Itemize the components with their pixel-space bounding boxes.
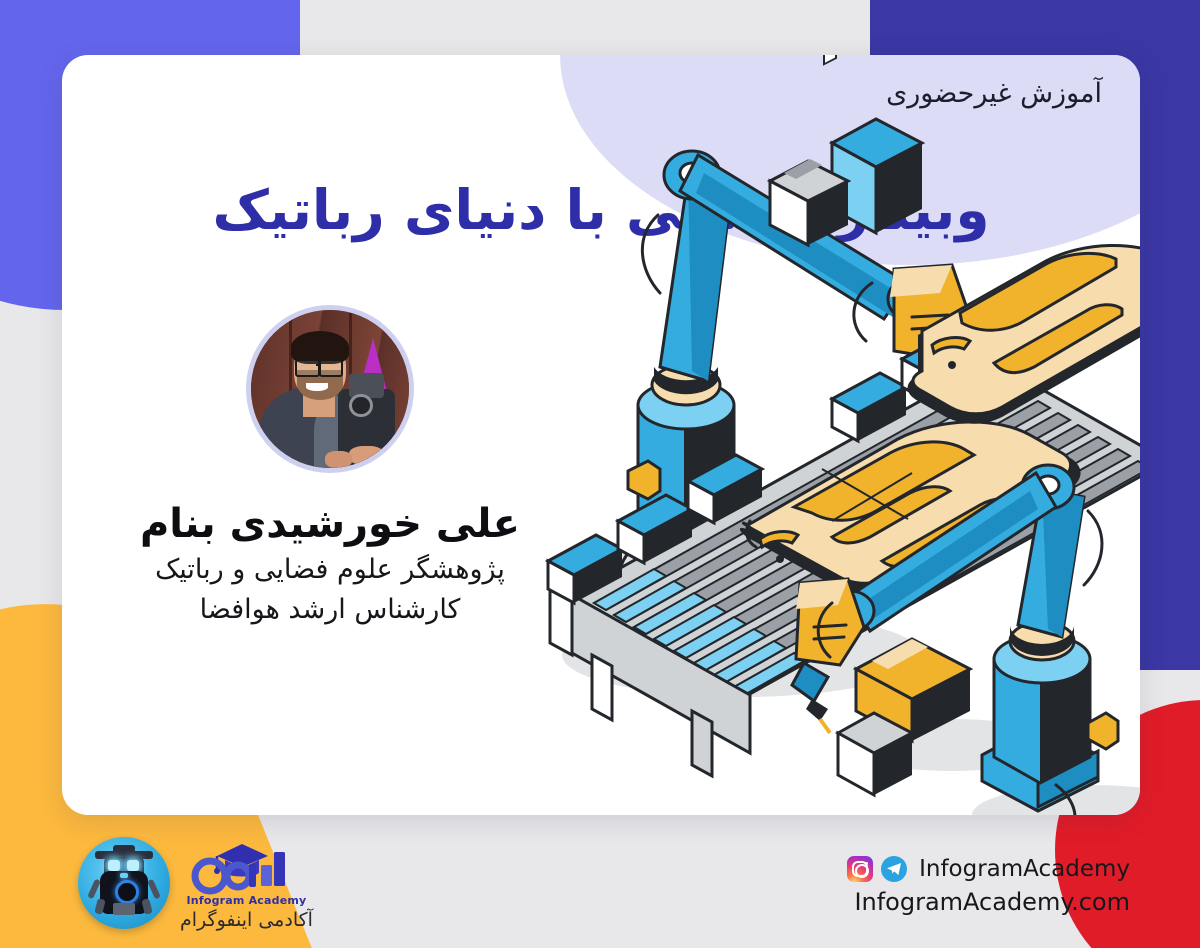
robot-arm-right xyxy=(147,878,161,899)
speaker-block: علی خورشیدی بنام پژوهشگر علوم فضایی و رب… xyxy=(90,305,570,630)
robot-eye-left xyxy=(108,860,120,870)
robot-mascot-badge xyxy=(78,837,170,929)
telegram-icon[interactable] xyxy=(881,856,907,882)
robot-leg-right xyxy=(142,898,154,914)
speaker-role-line-2: کارشناس ارشد هوافضا xyxy=(90,591,570,629)
avatar xyxy=(246,305,414,473)
robot-arm-left xyxy=(87,878,101,899)
robotics-illustration: .dk{fill:#23272c}.bl{fill:#35ace0}.bl2{f… xyxy=(532,55,1140,815)
photo-person-hand-left xyxy=(325,451,352,468)
robot-eye-right xyxy=(127,860,139,870)
speaker-name: علی خورشیدی بنام xyxy=(90,499,570,549)
poster-canvas: آموزش غیرحضوری وبینار آشنایی با دنیای رب… xyxy=(0,0,1200,948)
photo-person-hand-right xyxy=(349,446,384,465)
robot-panel xyxy=(113,903,135,915)
content-card: آموزش غیرحضوری وبینار آشنایی با دنیای رب… xyxy=(62,55,1140,815)
footer-brand: Infogram Academy آکادمی اینفوگرام xyxy=(78,834,313,931)
infogram-logo-mark xyxy=(186,836,306,898)
brand-name-en: Infogram Academy xyxy=(180,894,313,907)
photo-glasses-bridge xyxy=(316,364,321,366)
social-handle[interactable]: InfogramAcademy xyxy=(919,856,1130,882)
speaker-photo xyxy=(251,310,409,468)
social-row: InfogramAcademy xyxy=(847,856,1130,882)
cardboard-boxes-top xyxy=(770,55,922,245)
brand-logo: Infogram Academy آکادمی اینفوگرام xyxy=(180,834,313,931)
robot-core-ring xyxy=(115,880,139,904)
photo-person-smile xyxy=(306,383,328,391)
photo-robot-lens xyxy=(349,394,372,417)
instagram-icon[interactable] xyxy=(847,856,873,882)
brand-name-fa: آکادمی اینفوگرام xyxy=(180,909,313,931)
photo-glasses-left xyxy=(295,359,320,377)
photo-glasses-right xyxy=(319,359,344,377)
footer-contact: InfogramAcademy InfogramAcademy.com xyxy=(847,856,1130,916)
website-url[interactable]: InfogramAcademy.com xyxy=(847,888,1130,916)
robot-led xyxy=(120,873,127,878)
speaker-role-line-1: پژوهشگر علوم فضایی و رباتیک xyxy=(90,551,570,589)
